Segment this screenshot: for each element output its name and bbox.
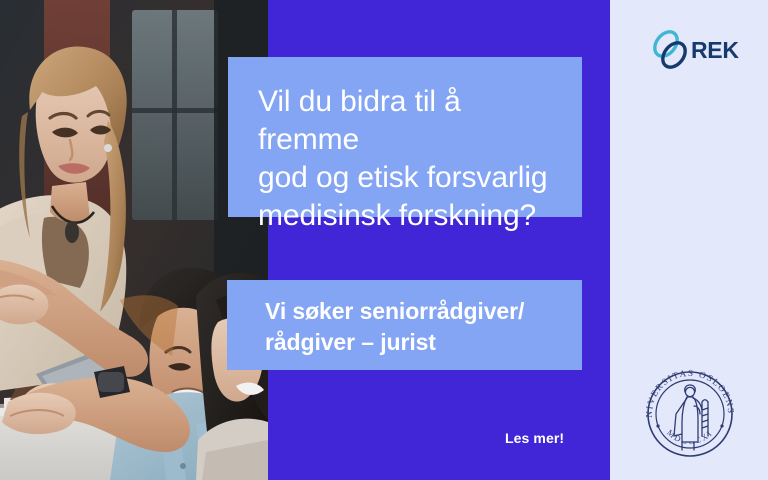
recruitment-banner: Vil du bidra til å fremme god og etisk f…	[0, 0, 768, 480]
role-textbox: Vi søker seniorrådgiver/ rådgiver – juri…	[227, 280, 582, 370]
role-text: Vi søker seniorrådgiver/ rådgiver – juri…	[265, 296, 562, 358]
interlocking-rings-icon	[648, 27, 694, 73]
rek-wordmark: REK	[691, 37, 739, 64]
read-more-link[interactable]: Les mer!	[505, 430, 564, 446]
headline-text: Vil du bidra til å fremme god og etisk f…	[258, 83, 562, 235]
uio-seal: UNIVERSITAS OSLOENSIS MDCCCXI	[638, 362, 742, 466]
headline-textbox: Vil du bidra til å fremme god og etisk f…	[228, 57, 582, 217]
rek-logo: REK	[648, 26, 748, 74]
